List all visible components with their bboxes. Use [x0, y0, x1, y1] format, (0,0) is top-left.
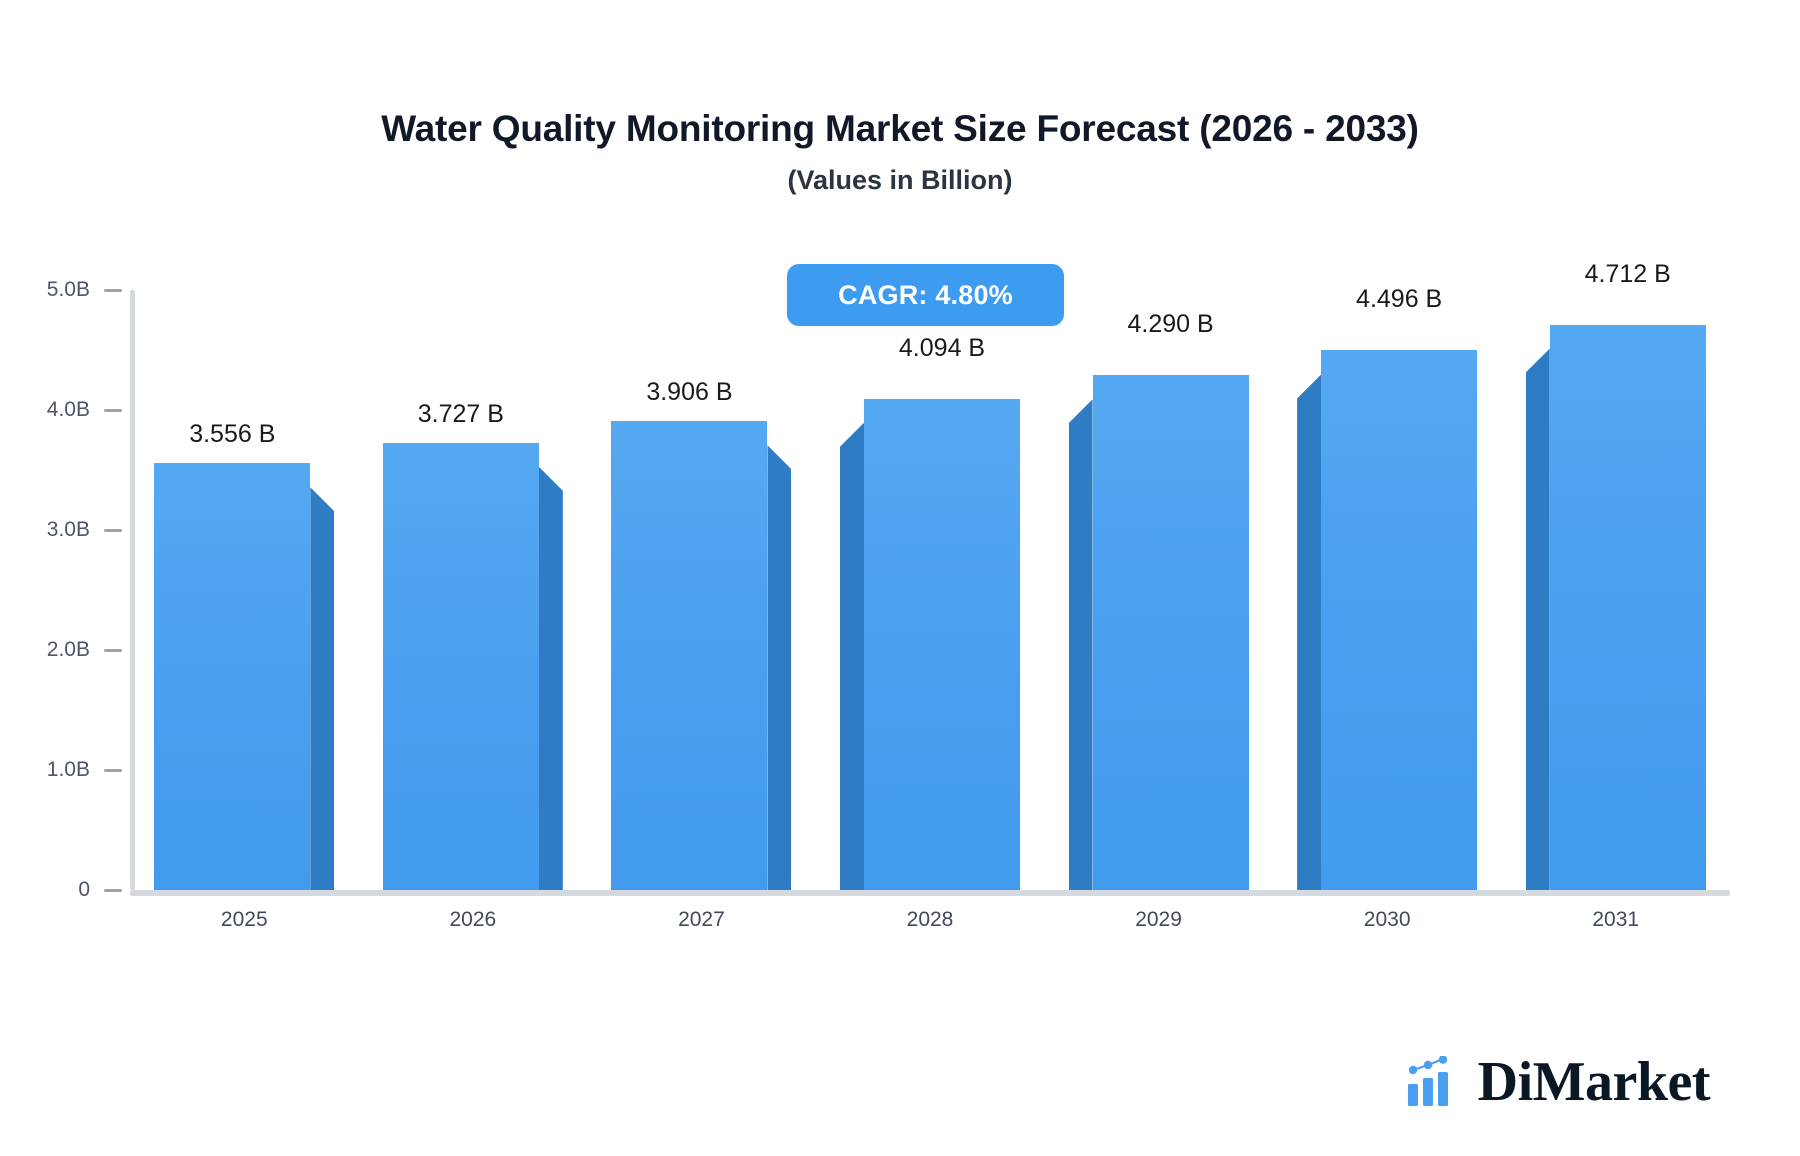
x-axis-tick-label: 2028 [907, 908, 954, 932]
bar-2025[interactable]: 3.556 B [154, 463, 310, 890]
y-axis-tick-label: 4.0B [47, 398, 90, 422]
bar-front-face [1093, 375, 1249, 890]
bar-front-face [1321, 350, 1477, 890]
bar-2031[interactable]: 4.712 B [1550, 325, 1706, 890]
chart-container: Water Quality Monitoring Market Size For… [0, 0, 1800, 1156]
y-axis-tick-mark [104, 409, 122, 412]
bar-side-face [539, 467, 563, 890]
bar-side-face [767, 445, 791, 890]
y-axis-tick: 1.0B [0, 758, 122, 782]
x-axis-tick-label: 2026 [449, 908, 496, 932]
chart-subtitle: (Values in Billion) [0, 165, 1800, 196]
bar-value-label: 4.712 B [1585, 260, 1671, 289]
bar-value-label: 4.094 B [899, 334, 985, 363]
y-axis-tick-mark [104, 529, 122, 532]
x-axis-line [130, 890, 1730, 896]
y-axis-tick-label: 1.0B [47, 758, 90, 782]
y-axis-tick: 0 [0, 878, 122, 902]
bar-front-face [1550, 325, 1706, 890]
bar-value-label: 3.727 B [418, 400, 504, 429]
bar-front-face [154, 463, 310, 890]
bar-2027[interactable]: 3.906 B [611, 421, 767, 890]
y-axis-tick-label: 3.0B [47, 518, 90, 542]
bar-value-label: 4.496 B [1356, 285, 1442, 314]
bar-side-face [1526, 349, 1550, 890]
y-axis-tick-label: 0 [78, 878, 90, 902]
x-axis-tick-label: 2025 [221, 908, 268, 932]
cagr-badge: CAGR: 4.80% [787, 264, 1064, 326]
bar-2026[interactable]: 3.727 B [383, 443, 539, 890]
bar-value-label: 4.290 B [1127, 310, 1213, 339]
y-axis-tick-mark [104, 649, 122, 652]
bar-chart-icon [1406, 1056, 1462, 1108]
bar-value-label: 3.556 B [189, 420, 275, 449]
x-axis-tick-label: 2030 [1364, 908, 1411, 932]
bar-2028[interactable]: 4.094 B [864, 399, 1020, 890]
y-axis-tick-label: 2.0B [47, 638, 90, 662]
bar-series: 3.556 B3.727 B3.906 B4.094 B4.290 B4.496… [130, 290, 1730, 890]
chart-header: Water Quality Monitoring Market Size For… [0, 108, 1800, 196]
bar-front-face [383, 443, 539, 890]
plot-area: 01.0B2.0B3.0B4.0B5.0B 3.556 B3.727 B3.90… [130, 290, 1730, 890]
brand-logo: DiMarket [1406, 1054, 1710, 1110]
y-axis-tick-mark [104, 289, 122, 292]
y-axis-tick-label: 5.0B [47, 278, 90, 302]
bar-side-face [1297, 374, 1321, 890]
y-axis-tick: 3.0B [0, 518, 122, 542]
bar-side-face [840, 423, 864, 890]
bar-side-face [1069, 399, 1093, 890]
y-axis-tick: 5.0B [0, 278, 122, 302]
bar-value-label: 3.906 B [646, 378, 732, 407]
x-axis-tick-label: 2031 [1592, 908, 1639, 932]
chart-title: Water Quality Monitoring Market Size For… [0, 108, 1800, 151]
brand-name: DiMarket [1478, 1054, 1710, 1110]
y-axis-tick: 4.0B [0, 398, 122, 422]
bar-2029[interactable]: 4.290 B [1093, 375, 1249, 890]
x-axis-tick-label: 2029 [1135, 908, 1182, 932]
bar-2030[interactable]: 4.496 B [1321, 350, 1477, 890]
bar-front-face [611, 421, 767, 890]
y-axis-tick: 2.0B [0, 638, 122, 662]
bar-side-face [310, 487, 334, 890]
y-axis-tick-mark [104, 769, 122, 772]
y-axis-tick-mark [104, 889, 122, 892]
x-axis-tick-label: 2027 [678, 908, 725, 932]
bar-front-face [864, 399, 1020, 890]
